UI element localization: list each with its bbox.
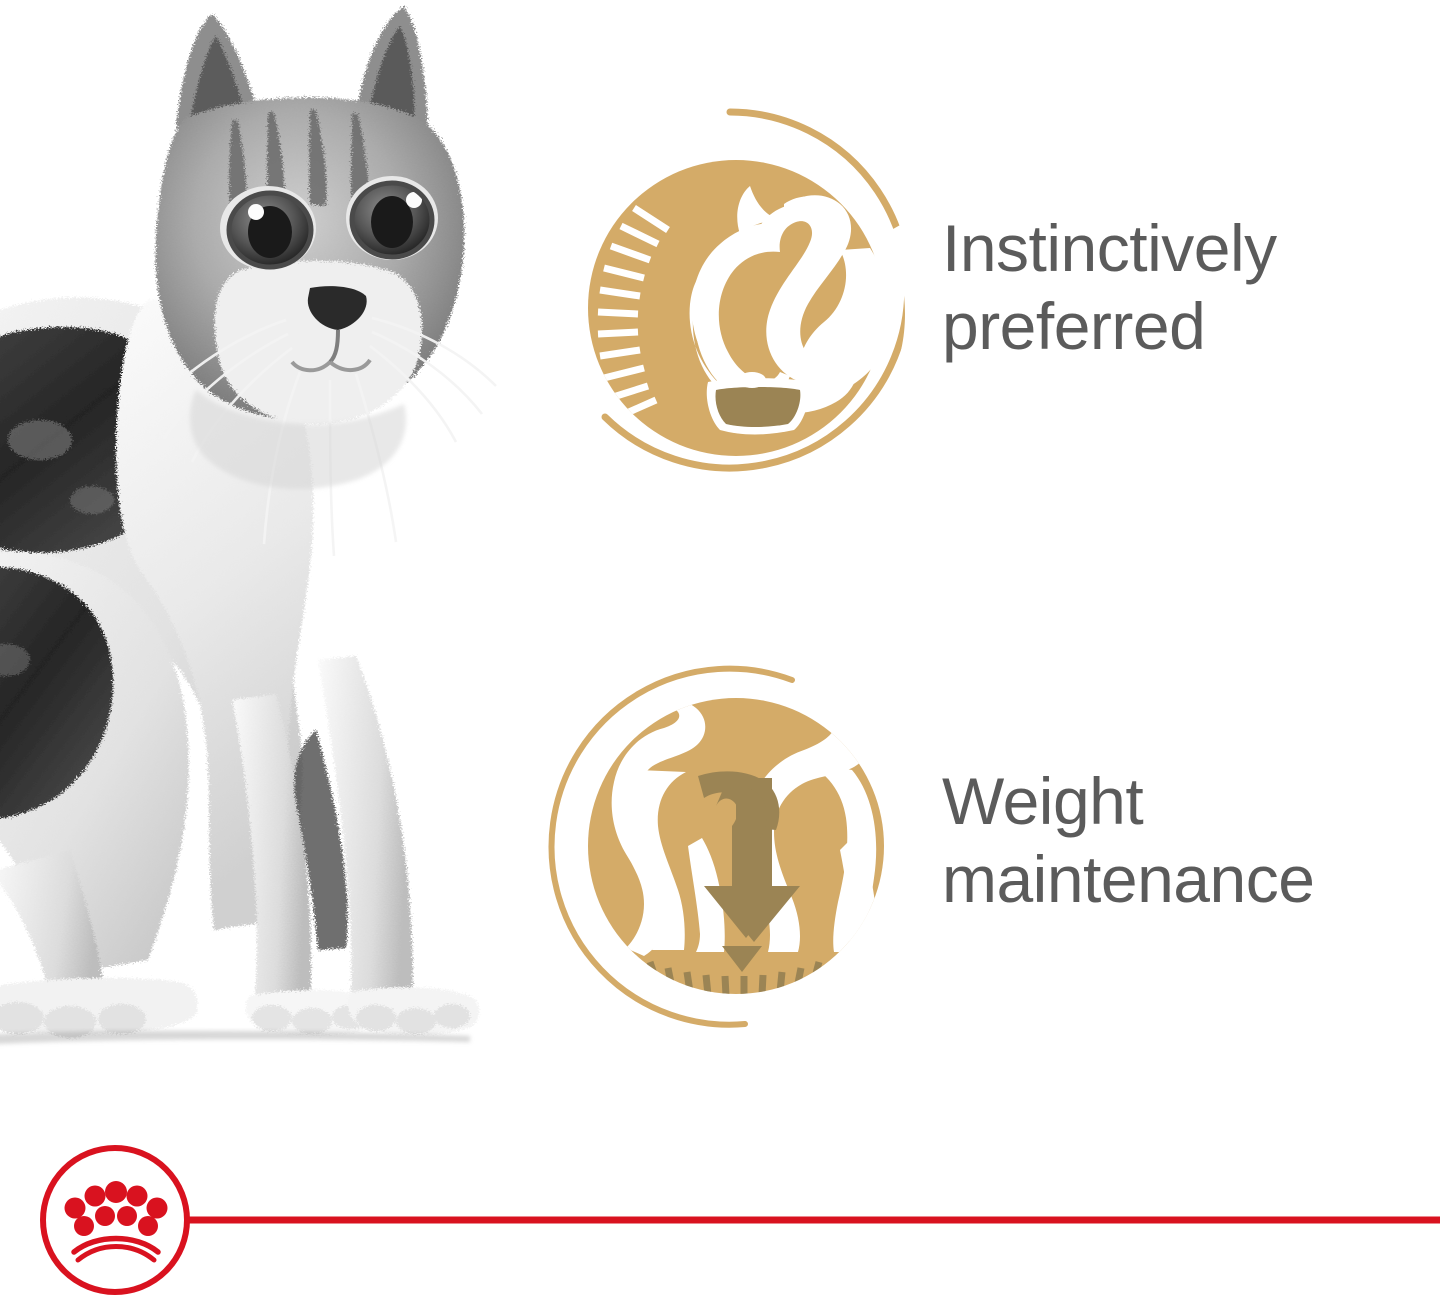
- feature-row: Weight maintenance: [540, 650, 1445, 1030]
- cat-photo: [0, 0, 520, 1075]
- weight-maintenance-cats-scale-icon: [540, 650, 920, 1030]
- feature-label: Instinctively preferred: [920, 209, 1445, 365]
- feature-panel-page: Instinctively preferred: [0, 0, 1445, 1300]
- royal-canin-crown-logo: [43, 1148, 187, 1292]
- cat-eating-from-bowl-icon: [540, 100, 920, 480]
- brand-footer: [0, 1130, 1445, 1300]
- feature-label: Weight maintenance: [920, 762, 1445, 918]
- feature-row: Instinctively preferred: [540, 100, 1445, 480]
